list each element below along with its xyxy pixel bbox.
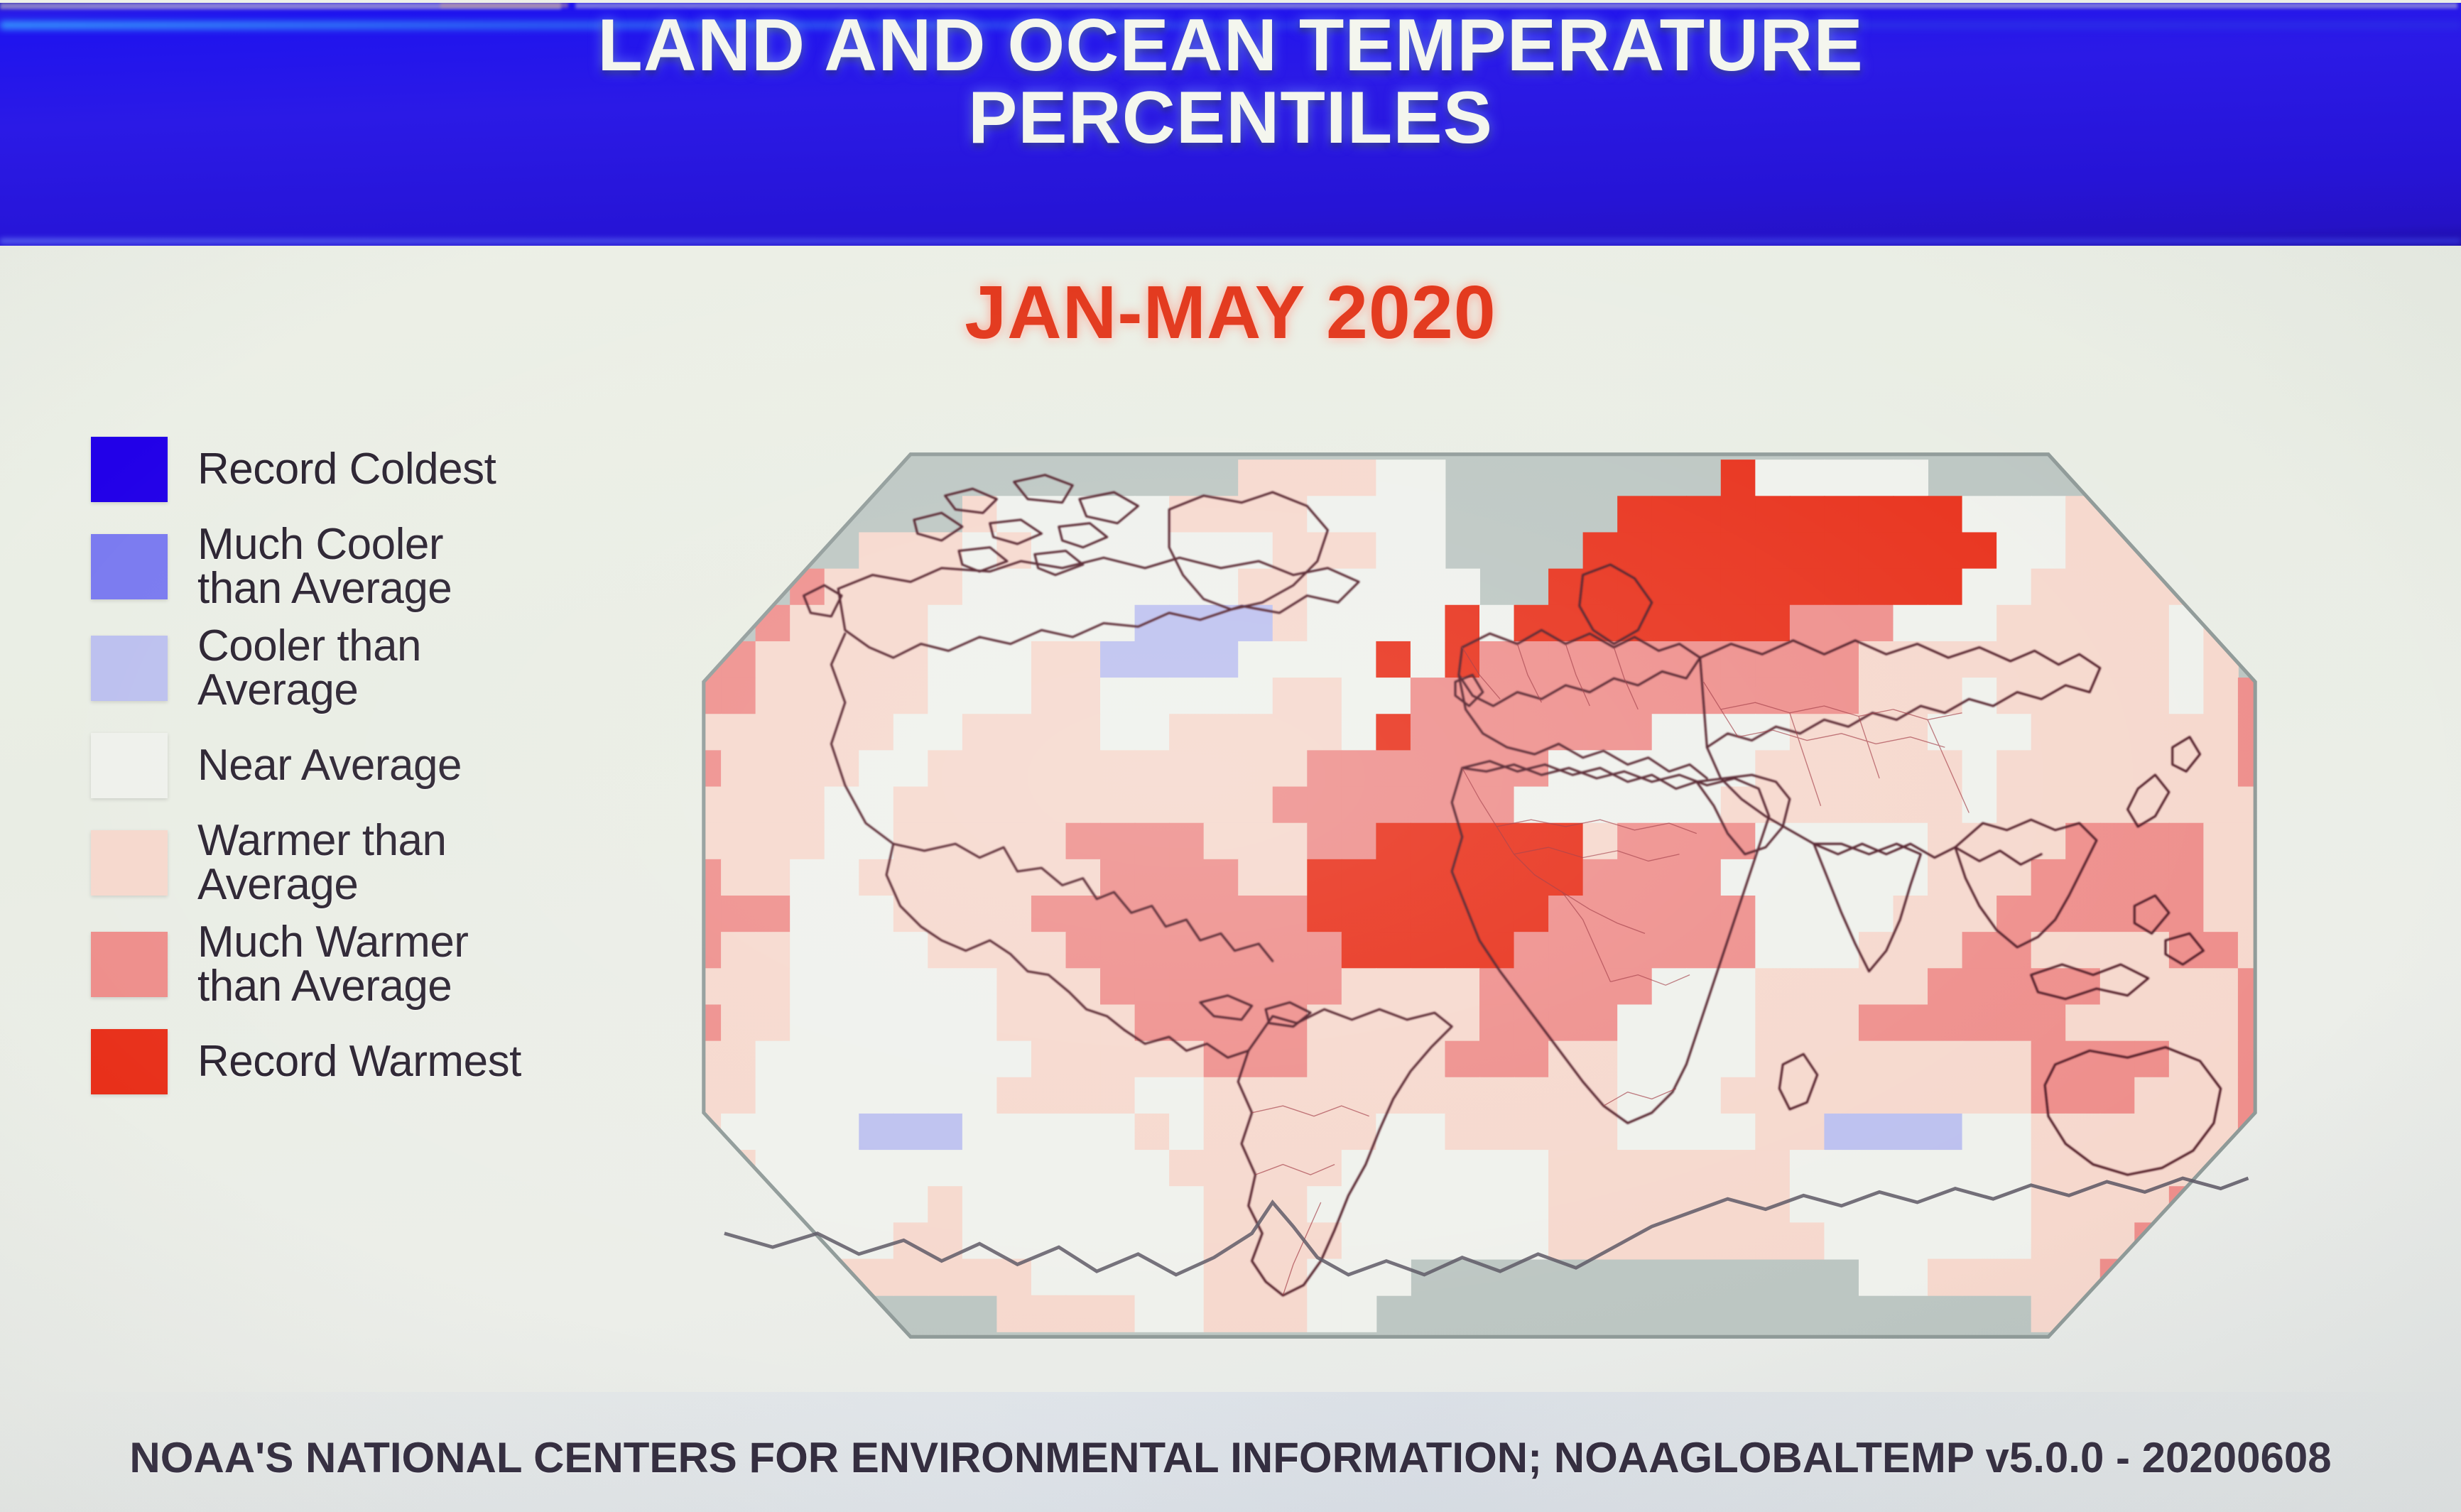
percentile-cell (1996, 1150, 2032, 1187)
percentile-cell (2100, 569, 2136, 606)
percentile-cell (1411, 823, 1446, 860)
percentile-cell (1514, 1114, 1550, 1151)
percentile-cell (1928, 1004, 1963, 1041)
percentile-cell (756, 1222, 791, 1259)
percentile-cell (1169, 859, 1205, 896)
banner-bottom-glow (0, 239, 2461, 244)
percentile-cell (2065, 678, 2101, 714)
percentile-cell (756, 1114, 791, 1151)
percentile-cell (1376, 714, 1411, 751)
legend-label: Record Coldest (197, 447, 496, 491)
percentile-cell (859, 1041, 894, 1078)
percentile-cell (1376, 750, 1411, 787)
percentile-cell (996, 496, 1032, 533)
percentile-cell (1342, 968, 1377, 1005)
percentile-cell (1721, 1150, 1756, 1187)
percentile-cell (1169, 1114, 1205, 1151)
percentile-cell (1031, 1041, 1067, 1078)
percentile-cell (1273, 532, 1308, 569)
percentile-cell (1514, 1004, 1550, 1041)
percentile-cell (1790, 459, 1825, 496)
percentile-cell (1031, 605, 1067, 642)
percentile-cell (1204, 1259, 1239, 1296)
percentile-cell (928, 896, 963, 932)
percentile-cell (1721, 750, 1756, 787)
percentile-cell (2134, 823, 2170, 860)
percentile-cell (756, 678, 791, 714)
percentile-cell (1100, 896, 1136, 932)
percentile-cell (1376, 459, 1411, 496)
percentile-cell (2134, 1041, 2170, 1078)
percentile-cell (1135, 859, 1170, 896)
percentile-cell (859, 1077, 894, 1114)
percentile-cell (1135, 787, 1170, 824)
percentile-cell (2100, 1114, 2136, 1151)
percentile-cell (1445, 1150, 1480, 1187)
percentile-cell (756, 823, 791, 860)
percentile-cell (1859, 1259, 1894, 1296)
percentile-cell (996, 641, 1032, 678)
legend-item: Much Cooler than Average (91, 528, 631, 606)
percentile-cell (1445, 859, 1480, 896)
percentile-cell (1238, 459, 1273, 496)
date-range-subtitle: JAN-MAY 2020 (0, 270, 2461, 356)
percentile-cell (1135, 1004, 1170, 1041)
percentile-cell (1583, 896, 1619, 932)
percentile-cell (2100, 1041, 2136, 1078)
percentile-cell (2169, 605, 2205, 642)
percentile-cell (2065, 605, 2101, 642)
percentile-cell (2203, 1150, 2239, 1187)
percentile-cell (1583, 968, 1619, 1005)
percentile-cell (1204, 859, 1239, 896)
percentile-cell (1100, 1077, 1136, 1114)
percentile-cell (2031, 1295, 2067, 1332)
percentile-cell (1204, 1150, 1239, 1187)
percentile-cell (1859, 532, 1894, 569)
percentile-cell (1031, 750, 1067, 787)
percentile-cell (928, 750, 963, 787)
percentile-cell (1894, 1259, 1929, 1296)
percentile-cell (2272, 787, 2307, 824)
percentile-cell (1479, 932, 1515, 969)
percentile-cell (893, 714, 929, 751)
percentile-cell (1169, 823, 1205, 860)
percentile-cell (1928, 605, 1963, 642)
percentile-cell (1928, 1114, 1963, 1151)
percentile-cell (1894, 968, 1929, 1005)
percentile-cell (1755, 1114, 1791, 1151)
percentile-cell (996, 1041, 1032, 1078)
percentile-cell (893, 823, 929, 860)
percentile-cell (2100, 605, 2136, 642)
percentile-cell (996, 678, 1032, 714)
percentile-cell (1238, 1114, 1273, 1151)
percentile-cell (1135, 678, 1170, 714)
percentile-cell (1824, 787, 1859, 824)
percentile-cell (1100, 678, 1136, 714)
percentile-cell (1342, 569, 1377, 606)
percentile-cell (1445, 1077, 1480, 1114)
percentile-cell (1273, 859, 1308, 896)
percentile-cell (652, 968, 688, 1005)
percentile-cell (1617, 1150, 1653, 1187)
percentile-cell (1617, 750, 1653, 787)
percentile-cell (1273, 496, 1308, 533)
percentile-cell (1479, 1077, 1515, 1114)
percentile-cell (1928, 932, 1963, 969)
percentile-cell (2134, 714, 2170, 751)
percentile-cell (2100, 1077, 2136, 1114)
percentile-cell (1204, 1114, 1239, 1151)
percentile-cell (1686, 823, 1722, 860)
percentile-cell (1100, 1004, 1136, 1041)
percentile-cell (1307, 459, 1342, 496)
percentile-cell (2272, 968, 2307, 1005)
percentile-cell (1135, 605, 1170, 642)
percentile-cell (1445, 968, 1480, 1005)
percentile-cell (1273, 1004, 1308, 1041)
percentile-cell (1479, 968, 1515, 1005)
percentile-cell (1859, 1004, 1894, 1041)
percentile-cell (1790, 569, 1825, 606)
percentile-cell (721, 968, 756, 1005)
percentile-cell (1962, 714, 1998, 751)
percentile-cell (962, 1259, 998, 1296)
percentile-cell (1204, 1295, 1239, 1332)
percentile-cell (2031, 1222, 2067, 1259)
percentile-cell (1652, 1114, 1688, 1151)
percentile-cell (1894, 678, 1929, 714)
percentile-cell (1686, 641, 1722, 678)
percentile-cell (1548, 968, 1584, 1005)
percentile-cell (2169, 1114, 2205, 1151)
percentile-cell (1066, 1041, 1102, 1078)
percentile-cell (2134, 1077, 2170, 1114)
percentile-cell (1824, 1150, 1859, 1187)
percentile-cell (2203, 1186, 2239, 1223)
percentile-cell (2134, 859, 2170, 896)
percentile-cell (2272, 750, 2307, 787)
percentile-cell (962, 1114, 998, 1151)
percentile-cell (1583, 1077, 1619, 1114)
percentile-cell (2065, 1259, 2101, 1296)
percentile-cell (1169, 750, 1205, 787)
percentile-cell (893, 569, 929, 606)
percentile-cell (2169, 1004, 2205, 1041)
percentile-cell (2203, 1114, 2239, 1151)
percentile-cell (2065, 532, 2101, 569)
percentile-cell (1894, 459, 1929, 496)
percentile-cell (2065, 932, 2101, 969)
percentile-cell (996, 1295, 1032, 1332)
percentile-cell (928, 1259, 963, 1296)
source-attribution: NOAA'S NATIONAL CENTERS FOR ENVIRONMENTA… (0, 1433, 2461, 1482)
percentile-cell (996, 932, 1032, 969)
percentile-cell (1652, 569, 1688, 606)
percentile-cell (1859, 823, 1894, 860)
percentile-cell (1652, 932, 1688, 969)
percentile-cell (1962, 678, 1998, 714)
percentile-cell (1652, 750, 1688, 787)
percentile-cell (859, 569, 894, 606)
percentile-cell (1479, 896, 1515, 932)
percentile-cell (1721, 859, 1756, 896)
percentile-cell (1066, 932, 1102, 969)
percentile-cell (721, 714, 756, 751)
percentile-cell (893, 532, 929, 569)
percentile-cell (1824, 714, 1859, 751)
percentile-cell (1617, 896, 1653, 932)
percentile-cell (1928, 496, 1963, 533)
percentile-cell (652, 1077, 688, 1114)
percentile-cell (1169, 714, 1205, 751)
percentile-cell (996, 569, 1032, 606)
percentile-cell (1962, 1114, 1998, 1151)
percentile-cell (1686, 532, 1722, 569)
percentile-cell (1548, 678, 1584, 714)
percentile-cell (790, 1259, 825, 1296)
percentile-cell (996, 1114, 1032, 1151)
percentile-cell (1790, 932, 1825, 969)
percentile-cell (1169, 1186, 1205, 1223)
percentile-cell (1307, 1114, 1342, 1151)
percentile-cell (1790, 1150, 1825, 1187)
percentile-cell (962, 787, 998, 824)
percentile-cell (1479, 1150, 1515, 1187)
percentile-cell (825, 1186, 860, 1223)
percentile-cell (996, 750, 1032, 787)
percentile-cell (652, 932, 688, 969)
percentile-cell (1100, 1295, 1136, 1332)
percentile-cell (1376, 641, 1411, 678)
percentile-cell (1583, 1041, 1619, 1078)
percentile-cell (1238, 932, 1273, 969)
percentile-cell (1755, 678, 1791, 714)
percentile-cell (2100, 641, 2136, 678)
percentile-cell (790, 678, 825, 714)
percentile-cell (1307, 1295, 1342, 1332)
percentile-cell (1135, 968, 1170, 1005)
percentile-cell (687, 1114, 722, 1151)
percentile-cell (2134, 641, 2170, 678)
percentile-cell (1031, 1222, 1067, 1259)
percentile-cell (652, 787, 688, 824)
percentile-cell (2031, 750, 2067, 787)
percentile-cell (1100, 750, 1136, 787)
percentile-cell (962, 1186, 998, 1223)
percentile-cell (1135, 532, 1170, 569)
percentile-cell (1479, 859, 1515, 896)
percentile-cell (996, 968, 1032, 1005)
percentile-cell (1859, 1150, 1894, 1187)
percentile-cell (2203, 787, 2239, 824)
percentile-cell (1928, 1041, 1963, 1078)
percentile-cell (1342, 641, 1377, 678)
percentile-cell (721, 787, 756, 824)
percentile-cell (928, 932, 963, 969)
percentile-cell (893, 1186, 929, 1223)
percentile-cell (1928, 1150, 1963, 1187)
percentile-cell (962, 714, 998, 751)
percentile-cell (1548, 1114, 1584, 1151)
percentile-cell (1307, 968, 1342, 1005)
percentile-cell (1652, 896, 1688, 932)
percentile-cell (2065, 1004, 2101, 1041)
percentile-cell (1031, 787, 1067, 824)
percentile-cell (1859, 459, 1894, 496)
percentile-cell (1824, 605, 1859, 642)
percentile-cell (1859, 787, 1894, 824)
percentile-cell (1169, 1295, 1205, 1332)
percentile-cell (1859, 569, 1894, 606)
percentile-cell (652, 1041, 688, 1078)
percentile-cell (1617, 496, 1653, 533)
percentile-cell (1894, 1077, 1929, 1114)
percentile-cell (1962, 1041, 1998, 1078)
percentile-cell (1996, 859, 2032, 896)
percentile-cell (1273, 750, 1308, 787)
percentile-cell (1445, 1114, 1480, 1151)
percentile-cell (1273, 823, 1308, 860)
percentile-cell (721, 678, 756, 714)
percentile-cell (1273, 1295, 1308, 1332)
percentile-cell (790, 1004, 825, 1041)
percentile-cell (1445, 823, 1480, 860)
percentile-cell (1376, 1114, 1411, 1151)
percentile-cell (1342, 787, 1377, 824)
percentile-cell (1066, 1186, 1102, 1223)
percentile-cell (1652, 1004, 1688, 1041)
percentile-cell (1066, 896, 1102, 932)
percentile-cell (1894, 532, 1929, 569)
percentile-cell (2203, 823, 2239, 860)
percentile-cell (1617, 823, 1653, 860)
percentile-cell (1928, 896, 1963, 932)
percentile-cell (1790, 605, 1825, 642)
percentile-cell (1100, 569, 1136, 606)
percentile-cell (1411, 932, 1446, 969)
percentile-cell (2169, 787, 2205, 824)
percentile-cell (1996, 569, 2032, 606)
percentile-cell (1031, 1259, 1067, 1296)
percentile-cell (2203, 532, 2239, 569)
percentile-cell (1824, 459, 1859, 496)
percentile-cell (1273, 459, 1308, 496)
percentile-cell (1996, 1259, 2032, 1296)
percentile-cell (1204, 1077, 1239, 1114)
legend-label: Much Warmer than Average (197, 920, 468, 1008)
percentile-cell (1514, 1041, 1550, 1078)
percentile-cell (1686, 1077, 1722, 1114)
percentile-cell (1376, 1150, 1411, 1187)
percentile-cell (962, 496, 998, 533)
percentile-cell (1445, 932, 1480, 969)
percentile-cell (1445, 787, 1480, 824)
percentile-cell (1411, 459, 1446, 496)
percentile-cell (756, 1259, 791, 1296)
percentile-cell (756, 787, 791, 824)
percentile-cell (2203, 1222, 2239, 1259)
percentile-cell (1894, 750, 1929, 787)
percentile-cell (962, 1077, 998, 1114)
percentile-cell (1204, 532, 1239, 569)
percentile-cell (1342, 532, 1377, 569)
percentile-cell (1273, 1041, 1308, 1078)
percentile-cell (790, 896, 825, 932)
percentile-cell (1962, 569, 1998, 606)
percentile-cell (2272, 1114, 2307, 1151)
percentile-cell (2169, 1186, 2205, 1223)
legend-label: Warmer than Average (197, 819, 447, 907)
legend-label: Record Warmest (197, 1040, 521, 1084)
percentile-cell (1894, 787, 1929, 824)
percentile-cell (1100, 714, 1136, 751)
percentile-cell (859, 714, 894, 751)
percentile-cell (1824, 532, 1859, 569)
percentile-cell (825, 1077, 860, 1114)
percentile-cell (1204, 787, 1239, 824)
percentile-cell (1755, 859, 1791, 896)
percentile-cell (1617, 1186, 1653, 1223)
percentile-cell (962, 968, 998, 1005)
legend-swatch-much-cooler (91, 534, 168, 599)
percentile-cell (1824, 678, 1859, 714)
percentile-cell (1066, 1150, 1102, 1187)
percentile-cell (790, 823, 825, 860)
percentile-cell (859, 1186, 894, 1223)
percentile-cell (2134, 1150, 2170, 1187)
percentile-cell (1686, 932, 1722, 969)
percentile-cell (1514, 1186, 1550, 1223)
percentile-cell (928, 569, 963, 606)
percentile-cell (1411, 859, 1446, 896)
percentile-cell (756, 896, 791, 932)
percentile-cell (1996, 714, 2032, 751)
percentile-cell (1686, 569, 1722, 606)
percentile-cell (1342, 1295, 1377, 1332)
percentile-cell (1652, 1222, 1688, 1259)
percentile-cell (893, 1077, 929, 1114)
percentile-cell (1859, 1222, 1894, 1259)
percentile-cell (790, 1077, 825, 1114)
percentile-cell (1859, 1077, 1894, 1114)
percentile-cell (1996, 1041, 2032, 1078)
percentile-cell (652, 896, 688, 932)
percentile-cell (1824, 496, 1859, 533)
percentile-cell (1824, 1114, 1859, 1151)
percentile-cell (1273, 1114, 1308, 1151)
percentile-cell (1238, 1259, 1273, 1296)
percentile-cell (1962, 787, 1998, 824)
percentile-cell (1617, 968, 1653, 1005)
percentile-cell (2100, 1295, 2136, 1332)
percentile-cell (1376, 968, 1411, 1005)
percentile-cell (1755, 569, 1791, 606)
percentile-cell (859, 896, 894, 932)
percentile-cell (1445, 1041, 1480, 1078)
percentile-cell (1273, 968, 1308, 1005)
percentile-cell (652, 1004, 688, 1041)
percentile-cell (825, 1004, 860, 1041)
percentile-cell (1996, 932, 2032, 969)
percentile-cell (1479, 1004, 1515, 1041)
percentile-cell (1100, 1150, 1136, 1187)
percentile-cell (1479, 1186, 1515, 1223)
percentile-cell (1996, 1004, 2032, 1041)
percentile-cell (1721, 605, 1756, 642)
percentile-cell (2272, 1041, 2307, 1078)
